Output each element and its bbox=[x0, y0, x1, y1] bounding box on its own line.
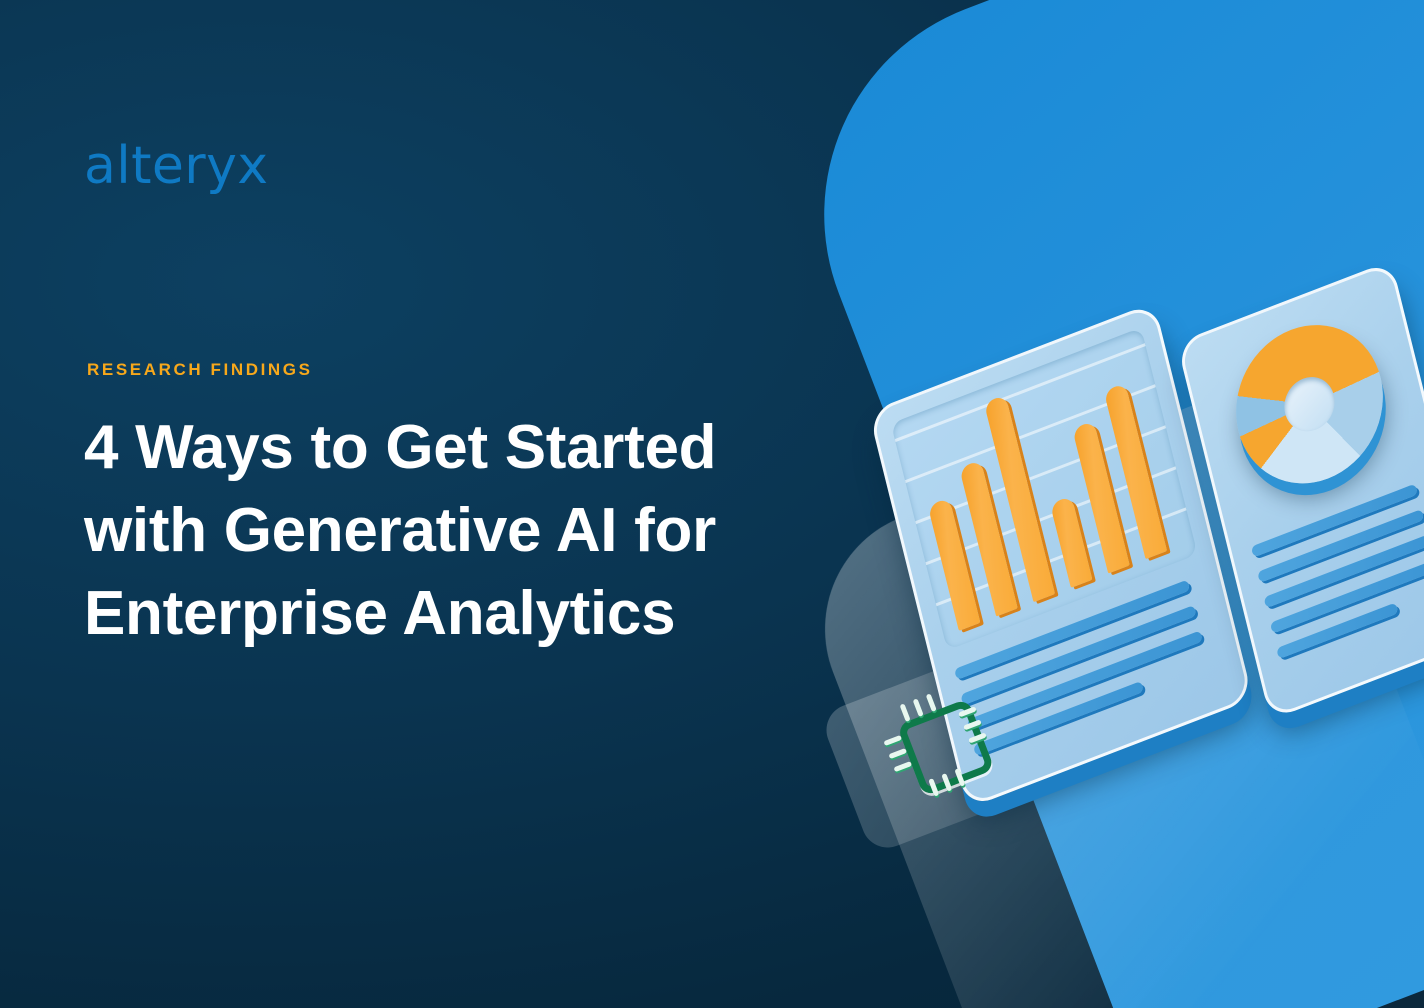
page-title: 4 Ways to Get Started with Generative AI… bbox=[84, 406, 904, 655]
headline-line-1: 4 Ways to Get Started bbox=[84, 406, 904, 489]
eyebrow-label: RESEARCH FINDINGS bbox=[87, 360, 313, 380]
headline-line-2: with Generative AI for bbox=[84, 489, 904, 572]
cover-page: alteryx RESEARCH FINDINGS 4 Ways to Get … bbox=[0, 0, 1424, 1008]
alteryx-logo: alteryx bbox=[84, 140, 268, 192]
headline-line-3: Enterprise Analytics bbox=[84, 572, 904, 655]
